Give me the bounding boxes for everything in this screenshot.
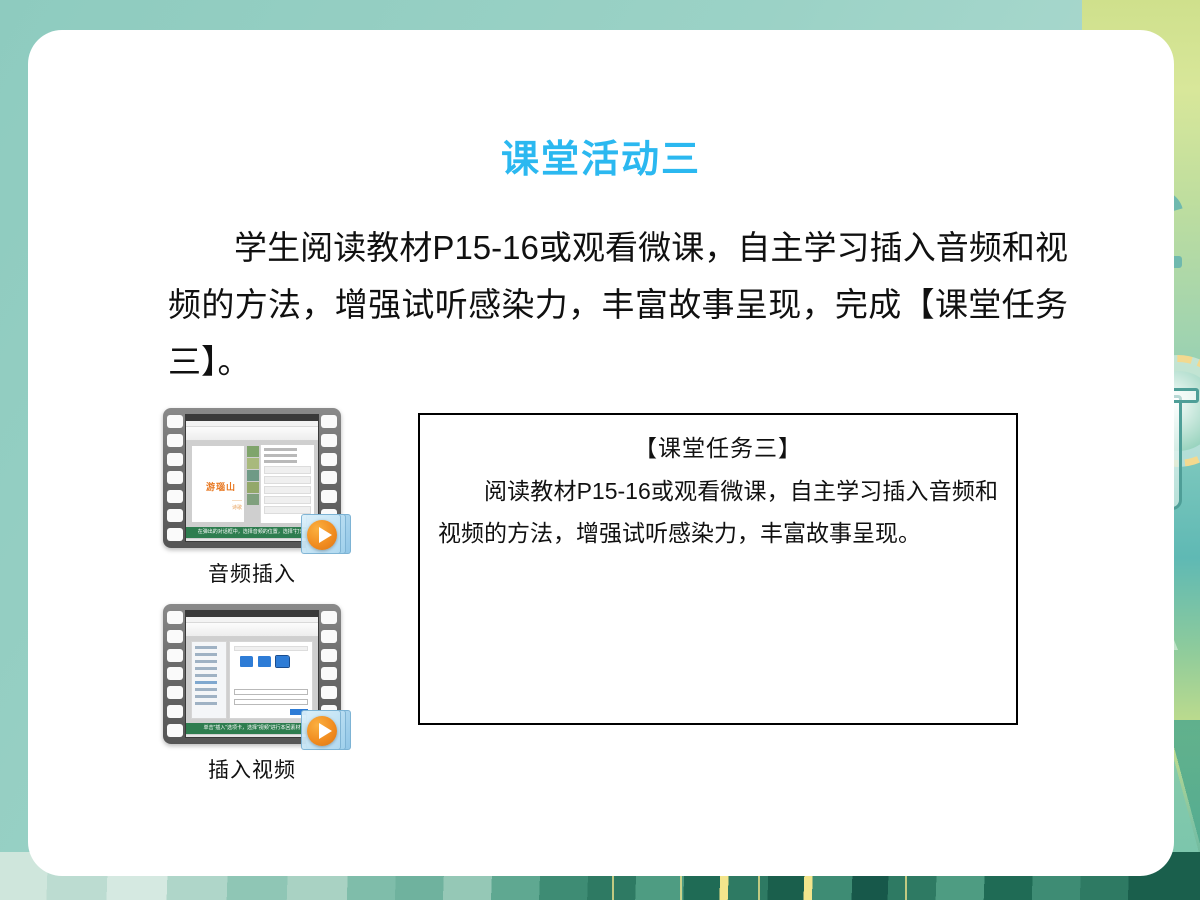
slide-root: 课堂活动三 学生阅读教材P15-16或观看微课，自主学习插入音频和视频的方法，增… [0,0,1200,900]
task-box-body: 阅读教材P15-16或观看微课，自主学习插入音频和视频的方法，增强试听感染力，丰… [438,471,998,555]
mini-ribbon [186,623,318,637]
mini-slide-canvas: 游瑙山 ——诗歌 [192,446,244,522]
film-strip-icon[interactable]: 游瑙山 ——诗歌 在弹 [163,408,341,548]
task-box: 【课堂任务三】 阅读教材P15-16或观看微课，自主学习插入音频和视频的方法，增… [418,413,1018,725]
mini-caption-bar: 在弹出的对话框中，选择音频的位置，选择"打开" [186,527,318,538]
content-card: 课堂活动三 学生阅读教材P15-16或观看微课，自主学习插入音频和视频的方法，增… [28,30,1174,876]
mini-slide-subtitle: ——诗歌 [232,498,244,511]
mini-photo-strip [247,446,259,522]
mini-editor-body: 游瑙山 ——诗歌 [186,441,318,527]
mini-statusbar [186,538,318,542]
media-item-video[interactable]: 单击"插入"选项卡，选择"视频"进行本回素材 插入视频 [163,604,358,784]
film-perforations-left [167,415,183,541]
film-perforations-left [167,611,183,737]
mini-statusbar [186,734,318,738]
film-strip-icon[interactable]: 单击"插入"选项卡，选择"视频"进行本回素材 [163,604,341,744]
media-item-audio[interactable]: 游瑙山 ——诗歌 在弹 [163,408,358,588]
mini-dialog-sidebar [191,641,227,719]
play-button-icon[interactable] [301,512,351,556]
video-thumbnail-audio: 游瑙山 ——诗歌 在弹 [185,414,319,542]
media-column: 游瑙山 ——诗歌 在弹 [163,408,358,800]
page-title: 课堂活动三 [28,128,1174,183]
video-thumbnail-video: 单击"插入"选项卡，选择"视频"进行本回素材 [185,610,319,738]
mini-file-dialog [186,637,318,723]
task-box-title: 【课堂任务三】 [438,429,998,463]
lead-paragraph: 学生阅读教材P15-16或观看微课，自主学习插入音频和视频的方法，增强试听感染力… [168,220,1068,390]
media-label-audio: 音频插入 [163,558,341,588]
media-label-video: 插入视频 [163,754,341,784]
mini-ribbon [186,427,318,441]
mini-caption-bar: 单击"插入"选项卡，选择"视频"进行本回素材 [186,723,318,734]
play-button-icon[interactable] [301,708,351,752]
mini-slide-title: 游瑙山 [206,480,236,493]
mini-folder-icons [234,656,308,667]
